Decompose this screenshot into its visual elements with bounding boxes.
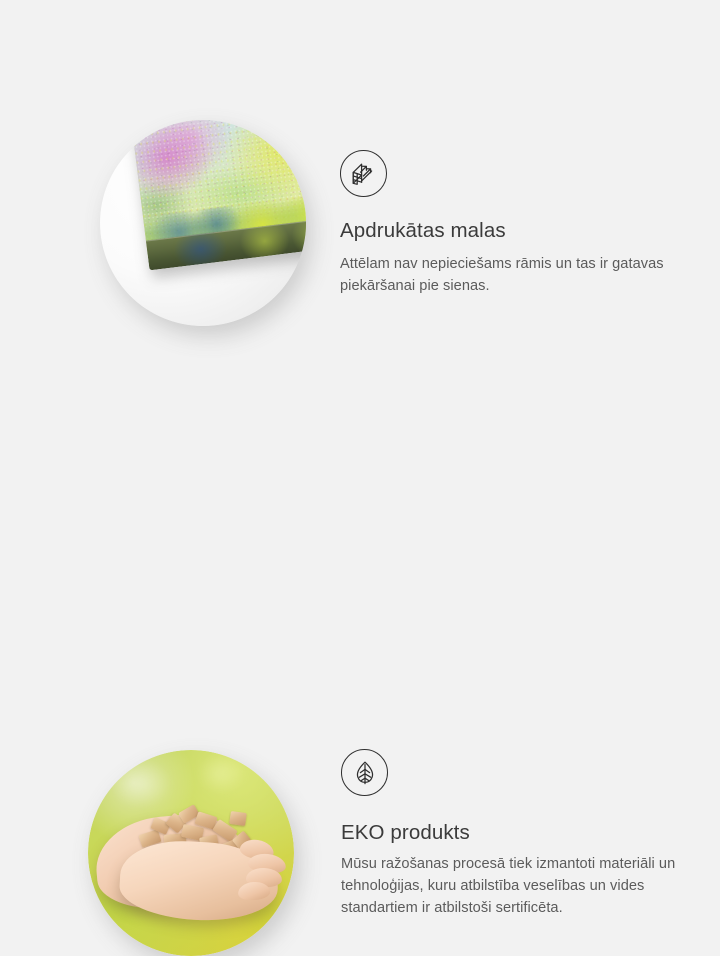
- hands-holding-chips: [90, 802, 294, 924]
- hands-with-wood-chips-photo: [88, 750, 294, 956]
- grass-background: [88, 750, 294, 956]
- feature-text-eco-product: EKO produkts Mūsu ražošanas procesā tiek…: [341, 749, 689, 919]
- leaf-glyph: [350, 758, 380, 788]
- printed-edges-glyph: [349, 159, 379, 189]
- feature-title: Apdrukātas malas: [340, 219, 688, 244]
- feature-block-eco-product: EKO produkts Mūsu ražošanas procesā tiek…: [0, 360, 720, 720]
- printed-edges-icon: [340, 150, 387, 197]
- feature-block-printed-edges: Apdrukātas malas Attēlam nav nepieciešam…: [0, 0, 720, 360]
- photo-disc-1: [100, 120, 306, 326]
- feature-text-printed-edges: Apdrukātas malas Attēlam nav nepieciešam…: [340, 150, 688, 297]
- canvas-print-corner-photo: [100, 120, 306, 326]
- product-features-page: Apdrukātas malas Attēlam nav nepieciešam…: [0, 0, 720, 720]
- feature-title: EKO produkts: [341, 821, 689, 846]
- leaf-icon: [341, 749, 388, 796]
- canvas-print-object: [131, 120, 306, 270]
- photo-disc-2: [88, 750, 294, 956]
- feature-description: Mūsu ražošanas procesā tiek izmantoti ma…: [341, 853, 681, 920]
- feature-description: Attēlam nav nepieciešams rāmis un tas ir…: [340, 253, 670, 297]
